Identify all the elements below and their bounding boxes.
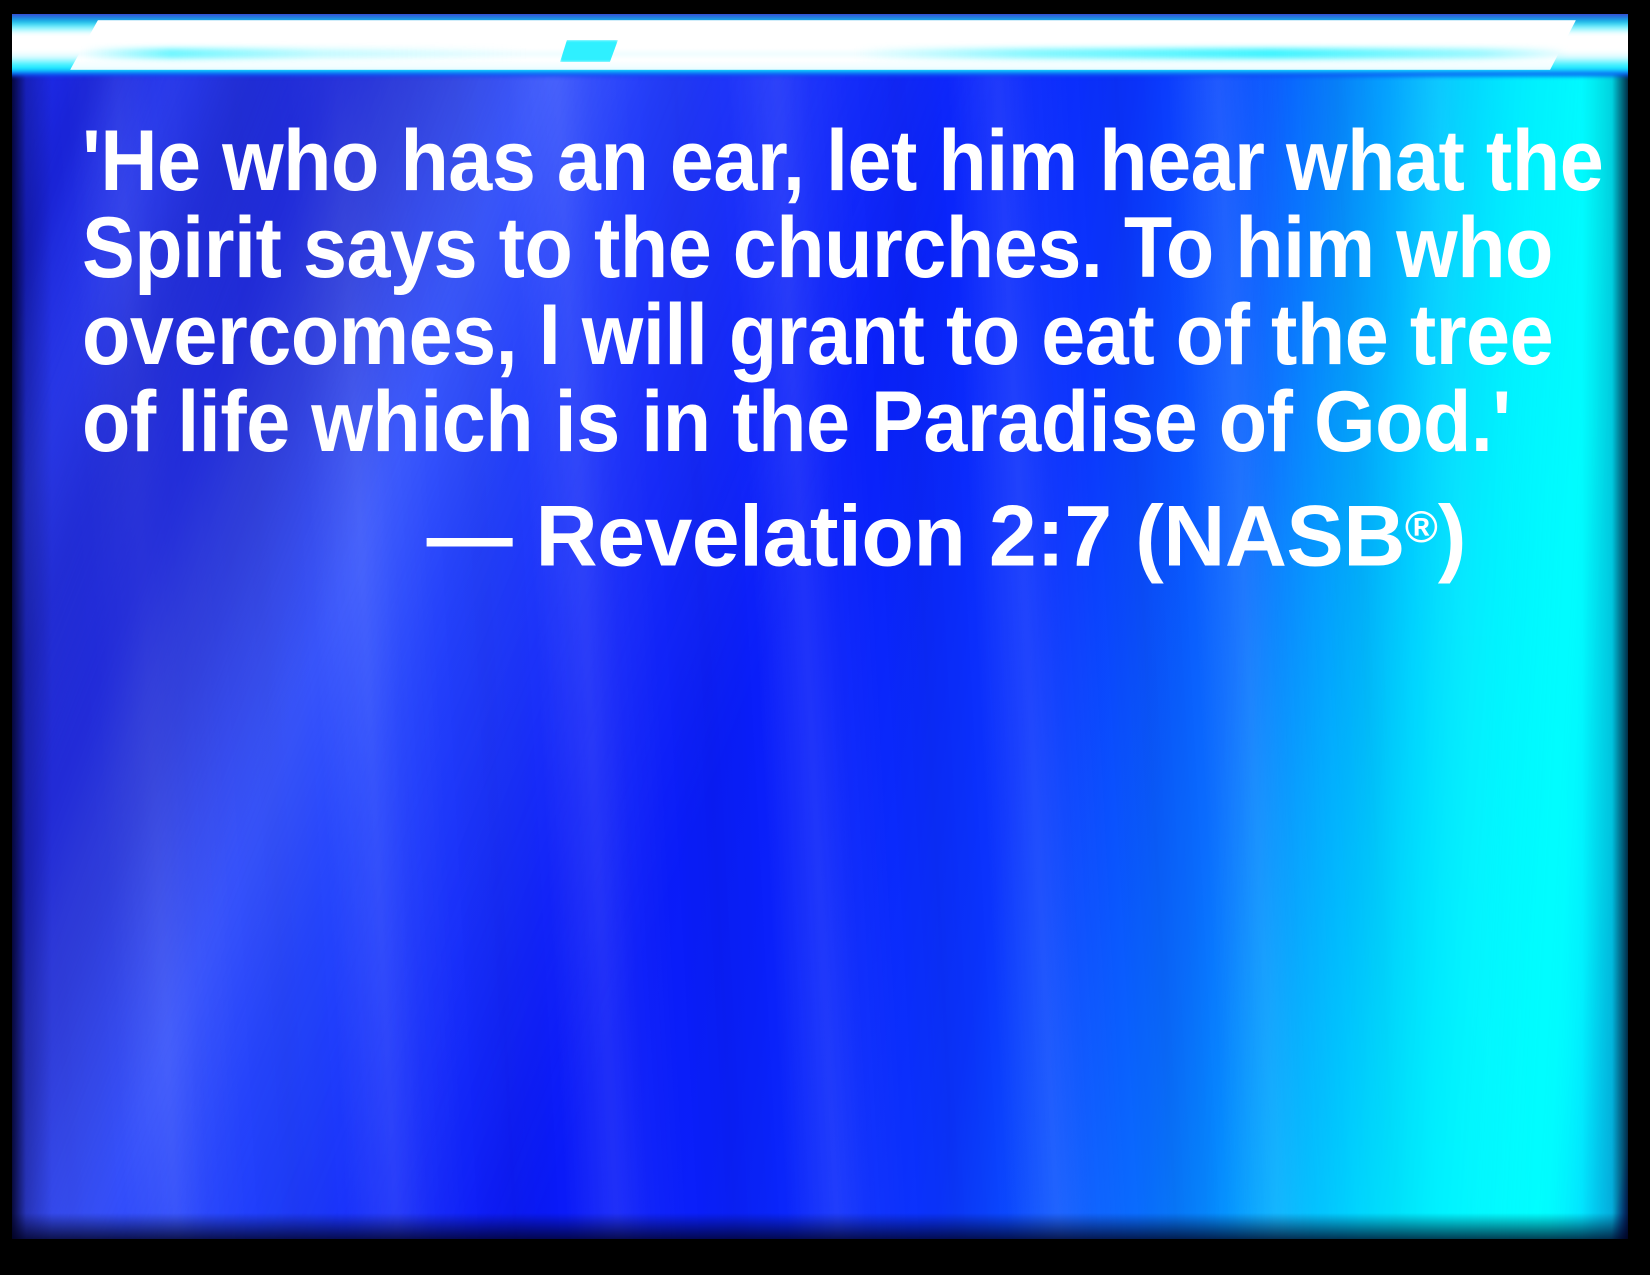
attribution-book: Revelation	[536, 488, 966, 584]
top-bar-cyan-streak	[82, 48, 1568, 59]
attribution-space-2	[965, 488, 988, 584]
verse-slide: 'He who has an ear, let him hear what th…	[0, 0, 1650, 1275]
verse-line-4: of life which is in the Paradise of God.…	[82, 379, 1361, 466]
verse-text-block: 'He who has an ear, let him hear what th…	[82, 118, 1472, 580]
verse-line-3: overcomes, I will grant to eat of the tr…	[82, 292, 1361, 379]
attribution-paren-open: (	[1135, 488, 1163, 584]
attribution-space-3	[1112, 488, 1135, 584]
top-highlight-bar	[12, 14, 1628, 86]
attribution-reference: 2:7	[989, 488, 1112, 584]
attribution-em-dash: —	[427, 488, 513, 584]
registered-trademark-icon: ®	[1405, 503, 1438, 552]
verse-attribution: — Revelation 2:7 (NASB®)	[82, 484, 1472, 580]
attribution-space-1	[512, 488, 535, 584]
verse-line-1: 'He who has an ear, let him hear what th…	[82, 118, 1361, 205]
top-bar-white-core	[70, 20, 1576, 70]
attribution-paren-close: )	[1438, 488, 1466, 584]
verse-line-2: Spirit says to the churches. To him who	[82, 205, 1361, 292]
attribution-translation: NASB	[1163, 488, 1405, 584]
top-bar-cyan-notch	[560, 40, 618, 62]
